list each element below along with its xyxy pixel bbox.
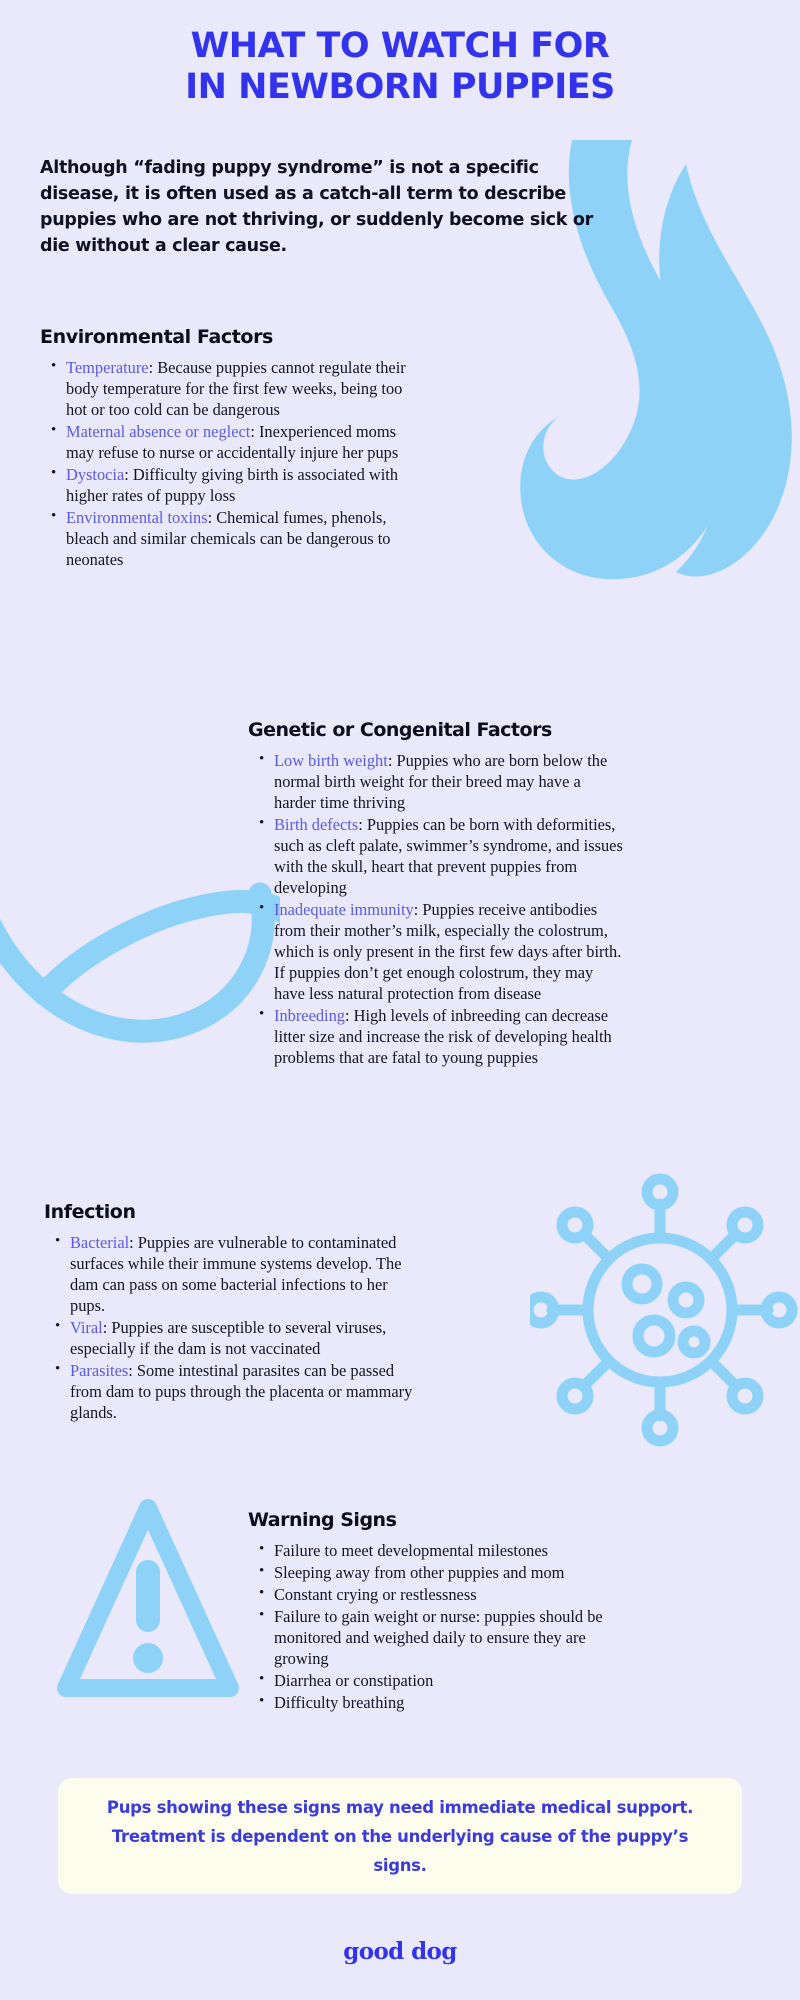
list-item: Diarrhea or constipation [274, 1670, 618, 1691]
list-item-keyword: Low birth weight [274, 751, 388, 770]
list-item: Maternal absence or neglect: Inexperienc… [66, 421, 420, 463]
environmental-factors-list: Temperature: Because puppies cannot regu… [40, 357, 420, 570]
section-heading: Warning Signs [248, 1508, 618, 1532]
list-item: Inbreeding: High levels of inbreeding ca… [274, 1005, 626, 1068]
list-item-text: : Puppies are susceptible to several vir… [70, 1318, 386, 1358]
section-genetic-or-congenital-factors: Genetic or Congenital Factors Low birth … [248, 718, 626, 1069]
list-item: Inadequate immunity: Puppies receive ant… [274, 899, 626, 1004]
list-item-keyword: Birth defects [274, 815, 358, 834]
list-item: Failure to gain weight or nurse: puppies… [274, 1606, 618, 1669]
intro-paragraph: Although “fading puppy syndrome” is not … [40, 155, 600, 259]
list-item: Bacterial: Puppies are vulnerable to con… [70, 1232, 419, 1316]
page-title: WHAT TO WATCH FOR IN NEWBORN PUPPIES [0, 26, 800, 108]
callout-text: Pups showing these signs may need immedi… [58, 1793, 742, 1880]
genetic-factors-list: Low birth weight: Puppies who are born b… [248, 750, 626, 1068]
virus-icon-decoration [530, 1160, 800, 1460]
list-item-keyword: Parasites [70, 1361, 128, 1380]
section-heading: Genetic or Congenital Factors [248, 718, 626, 742]
list-item-keyword: Environmental toxins [66, 508, 208, 527]
list-item: Viral: Puppies are susceptible to severa… [70, 1317, 419, 1359]
list-item: Constant crying or restlessness [274, 1584, 618, 1605]
section-heading: Environmental Factors [40, 325, 420, 349]
list-item: Sleeping away from other puppies and mom [274, 1562, 618, 1583]
list-item: Dystocia: Difficulty giving birth is ass… [66, 464, 420, 506]
list-item-keyword: Dystocia [66, 465, 124, 484]
infection-list: Bacterial: Puppies are vulnerable to con… [44, 1232, 419, 1423]
list-item: Low birth weight: Puppies who are born b… [274, 750, 626, 813]
infographic-page: WHAT TO WATCH FOR IN NEWBORN PUPPIES Alt… [0, 0, 800, 2000]
list-item-keyword: Inadequate immunity [274, 900, 414, 919]
list-item: Parasites: Some intestinal parasites can… [70, 1360, 419, 1423]
section-environmental-factors: Environmental Factors Temperature: Becau… [40, 325, 420, 571]
page-title-line-2: IN NEWBORN PUPPIES [0, 67, 800, 108]
list-item: Birth defects: Puppies can be born with … [274, 814, 626, 898]
list-item-keyword: Viral [70, 1318, 103, 1337]
section-warning-signs: Warning Signs Failure to meet developmen… [248, 1508, 618, 1714]
list-item-keyword: Maternal absence or neglect [66, 422, 250, 441]
list-item-keyword: Temperature [66, 358, 149, 377]
list-item-keyword: Inbreeding [274, 1006, 345, 1025]
section-infection: Infection Bacterial: Puppies are vulnera… [44, 1200, 419, 1424]
heart-outline-shape-decoration [0, 718, 280, 1118]
section-heading: Infection [44, 1200, 419, 1224]
page-title-line-1: WHAT TO WATCH FOR [0, 26, 800, 67]
list-item: Failure to meet developmental milestones [274, 1540, 618, 1561]
callout-box: Pups showing these signs may need immedi… [58, 1778, 742, 1894]
list-item: Difficulty breathing [274, 1692, 618, 1713]
warning-signs-list: Failure to meet developmental milestones… [248, 1540, 618, 1713]
footer: good dog [0, 1938, 800, 1965]
list-item: Temperature: Because puppies cannot regu… [66, 357, 420, 420]
brand-logo: good dog [343, 1938, 457, 1965]
list-item-keyword: Bacterial [70, 1233, 129, 1252]
list-item: Environmental toxins: Chemical fumes, ph… [66, 507, 420, 570]
warning-triangle-icon-decoration [48, 1488, 248, 1728]
